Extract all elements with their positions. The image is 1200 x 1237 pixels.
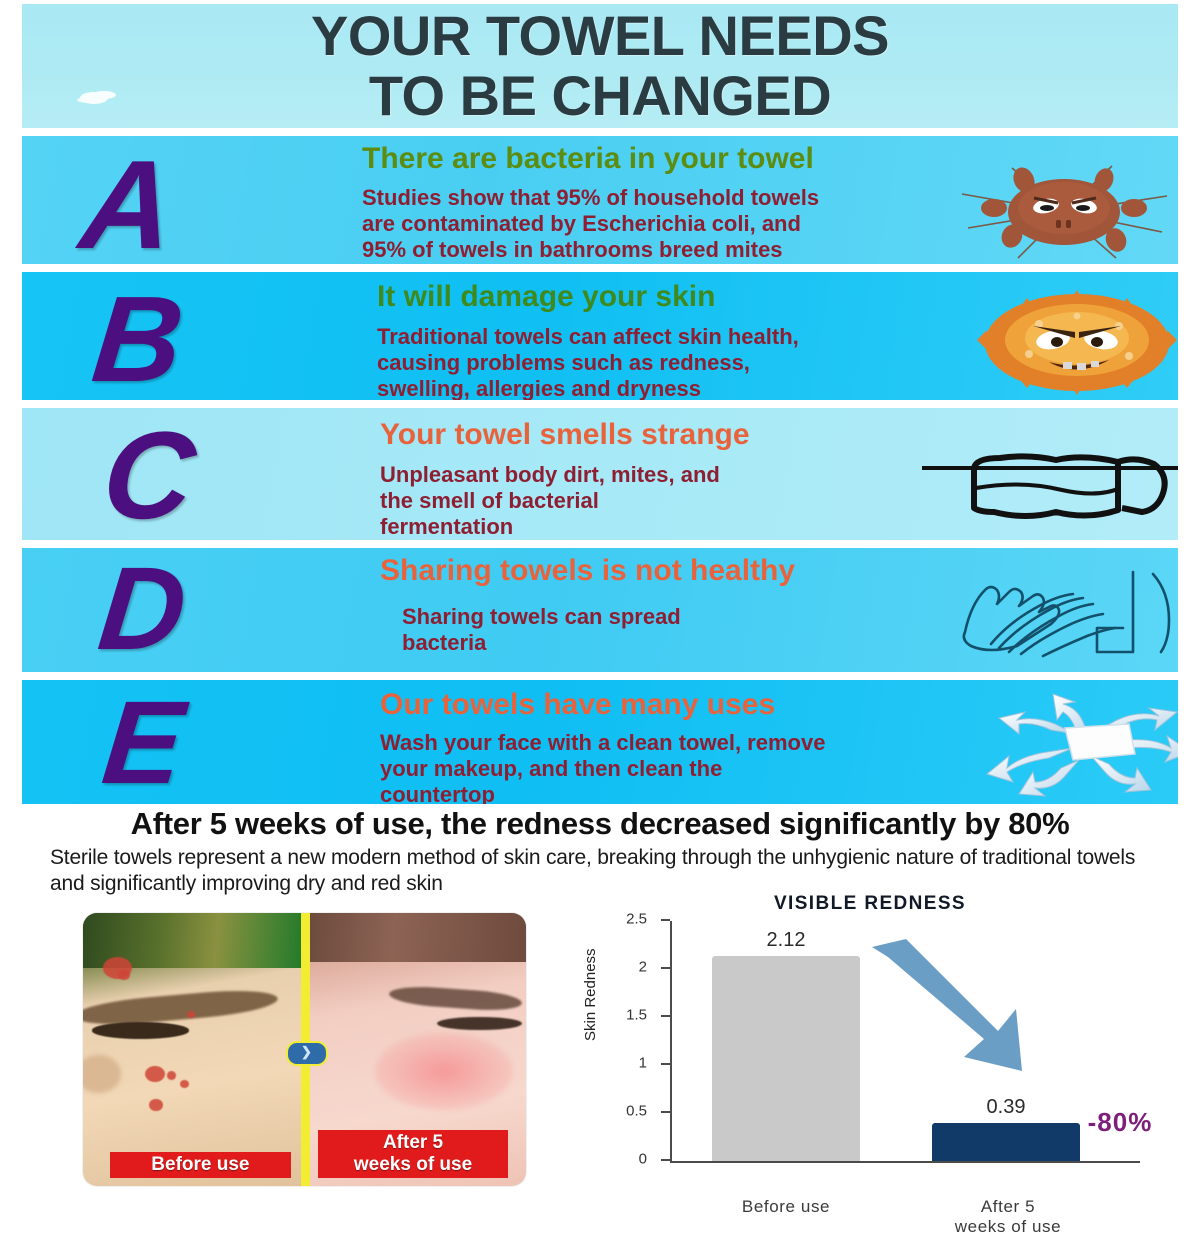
- section-body-d-line-1: Sharing towels can spread: [402, 604, 1020, 630]
- section-text-a: There are bacteria in your towel Studies…: [362, 142, 982, 263]
- section-text-e: Our towels have many uses Wash your face…: [380, 688, 1000, 804]
- chart-y-tick-label: 0.5: [626, 1103, 647, 1120]
- section-heading-d: Sharing towels is not healthy: [380, 554, 1020, 588]
- chart-decrease-arrow-icon: [866, 939, 1032, 1079]
- section-letter-b: B: [88, 278, 189, 400]
- section-text-b: It will damage your skin Traditional tow…: [377, 280, 977, 400]
- section-body-b-line-2: causing problems such as redness,: [377, 350, 977, 376]
- promo-subtitle: Sterile towels represent a new modern me…: [50, 845, 1160, 897]
- chart-x-label-text: weeks of use: [955, 1217, 1061, 1236]
- header-line-1: YOUR TOWEL NEEDS: [311, 4, 889, 67]
- section-row-b: B It will damage your skin Traditional t…: [22, 272, 1178, 400]
- chart-y-tick-label: 2: [639, 959, 647, 976]
- chart-x-axis: [670, 1161, 1140, 1163]
- chart-y-tick: 1.5: [661, 1015, 670, 1017]
- promo-title: After 5 weeks of use, the redness decrea…: [0, 806, 1200, 842]
- section-body-a-line-2: are contaminated by Escherichia coli, an…: [362, 211, 982, 237]
- before-photo: Before use: [83, 913, 305, 1186]
- section-body-a-line-1: Studies show that 95% of household towel…: [362, 185, 982, 211]
- header-line-2: TO BE CHANGED: [22, 66, 1178, 126]
- after-photo: After 5 weeks of use: [305, 913, 527, 1186]
- section-row-d: D Sharing towels is not healthy Sharing …: [22, 548, 1178, 672]
- chart-x-tick-label-before: Before use: [690, 1197, 882, 1217]
- section-heading-a: There are bacteria in your towel: [362, 142, 982, 176]
- acne-spot: [145, 1066, 165, 1082]
- comparison-slider-handle[interactable]: ❯: [286, 1041, 328, 1066]
- section-body-c-line-1: Unpleasant body dirt, mites, and: [380, 462, 940, 488]
- chart-y-axis-label: Skin Redness: [582, 948, 599, 1041]
- section-body-e-line-1: Wash your face with a clean towel, remov…: [380, 730, 1000, 756]
- section-body-e-line-3: countertop: [380, 782, 1000, 804]
- hanging-towel-icon: [922, 446, 1178, 528]
- page-title: YOUR TOWEL NEEDS TO BE CHANGED: [22, 6, 1178, 126]
- section-row-e: E Our towels have many uses Wash your fa…: [22, 680, 1178, 804]
- chart-y-tick-label: 0: [639, 1151, 647, 1168]
- section-body-d-line-2: bacteria: [402, 630, 1020, 656]
- section-letter-a: A: [75, 142, 179, 264]
- chart-y-tick: 2: [661, 967, 670, 969]
- acne-spot: [149, 1099, 162, 1111]
- section-body-b-line-3: swelling, allergies and dryness: [377, 376, 977, 400]
- section-row-a: A There are bacteria in your towel Studi…: [22, 136, 1178, 264]
- before-caption: Before use: [110, 1152, 292, 1178]
- section-text-c: Your towel smells strange Unpleasant bod…: [380, 418, 940, 540]
- acne-spot: [167, 1071, 176, 1079]
- after-blush: [375, 1033, 512, 1109]
- chart-y-tick: 1: [661, 1063, 670, 1065]
- section-heading-c: Your towel smells strange: [380, 418, 940, 452]
- acne-spot: [118, 970, 129, 980]
- drying-hands-icon: [947, 566, 1178, 670]
- chart-plot-area: 0 0.5 1 1.5 2 2.5 2.12 0.39 -80% Before …: [670, 921, 1140, 1163]
- after-caption: After 5 weeks of use: [318, 1130, 509, 1178]
- chart-y-tick: 0: [661, 1159, 670, 1161]
- chart-y-axis: [670, 921, 672, 1163]
- section-body-b-line-1: Traditional towels can affect skin healt…: [377, 324, 977, 350]
- chart-y-tick-label: 2.5: [626, 911, 647, 928]
- before-after-comparison[interactable]: Before use After 5 weeks of use ❯: [83, 913, 526, 1186]
- acne-spot: [187, 1011, 195, 1018]
- section-heading-e: Our towels have many uses: [380, 688, 1000, 722]
- chart-y-tick: 2.5: [661, 919, 670, 921]
- chart-percent-annotation: -80%: [1050, 1107, 1190, 1138]
- virus-icon: [952, 158, 1177, 264]
- visible-redness-chart: VISIBLE REDNESS Skin Redness 0 0.5 1 1.5…: [560, 893, 1180, 1200]
- chart-y-tick-label: 1: [639, 1055, 647, 1072]
- section-body-c-line-2: the smell of bacterial: [380, 488, 940, 514]
- chart-title: VISIBLE REDNESS: [560, 893, 1180, 915]
- before-eye: [92, 1022, 189, 1038]
- chart-x-tick-label-after: After 5 weeks of use: [912, 1197, 1104, 1237]
- header-banner: YOUR TOWEL NEEDS TO BE CHANGED: [22, 4, 1178, 128]
- section-text-d: Sharing towels is not healthy Sharing to…: [380, 554, 1020, 656]
- chart-y-tick: 0.5: [661, 1111, 670, 1113]
- germ-icon: [977, 290, 1177, 395]
- section-row-c: C Your towel smells strange Unpleasant b…: [22, 408, 1178, 540]
- acne-spot: [180, 1080, 189, 1088]
- section-body-a-line-3: 95% of towels in bathrooms breed mites: [362, 237, 982, 263]
- section-body-c-line-3: fermentation: [380, 514, 940, 540]
- after-eye: [437, 1017, 521, 1031]
- multi-use-arrows-icon: [977, 690, 1178, 798]
- chart-y-tick-label: 1.5: [626, 1007, 647, 1024]
- after-brow: [388, 985, 522, 1013]
- section-letter-e: E: [98, 684, 189, 802]
- after-caption-line-2: weeks of use: [354, 1154, 472, 1175]
- before-nose: [83, 1055, 121, 1093]
- before-brow: [83, 986, 279, 1028]
- section-heading-b: It will damage your skin: [377, 280, 977, 314]
- section-body-e-line-2: your makeup, and then clean the: [380, 756, 1000, 782]
- chart-bar-value-before: 2.12: [712, 929, 860, 952]
- section-letter-c: C: [97, 414, 200, 538]
- chart-bar-before: 2.12: [712, 956, 860, 1161]
- after-hair: [305, 913, 527, 962]
- section-letter-d: D: [94, 550, 192, 668]
- after-caption-line-1: After 5: [383, 1132, 443, 1153]
- promo-subtitle-line-1: Sterile towels represent a new modern me…: [50, 846, 954, 869]
